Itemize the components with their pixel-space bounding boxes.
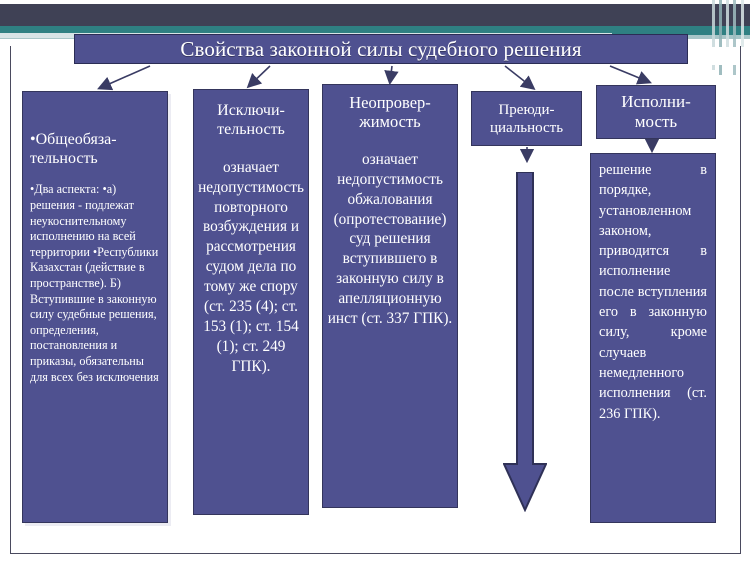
- node-body: означает недопустимость обжалования (опр…: [323, 132, 457, 329]
- slide-frame-left: [10, 46, 11, 554]
- node-body: означает недопустимость повторного возбу…: [194, 140, 308, 377]
- node-ispolnimost[interactable]: Исполни-мость: [596, 85, 716, 139]
- node-isklyuchitelnost[interactable]: Исключи-тельность означает недопустимост…: [193, 89, 309, 515]
- down-arrow-icon: [503, 172, 547, 512]
- slide-canvas: Свойства законной силы судебного решения…: [0, 0, 750, 562]
- node-preyudicialnost[interactable]: Преюди-циальность: [471, 91, 582, 146]
- slide-frame-bottom: [10, 553, 740, 554]
- slide-title-box: Свойства законной силы судебного решения: [74, 34, 688, 64]
- node-heading: •Общеобяза-тельность: [23, 92, 167, 168]
- node-obscheobyazatelnost[interactable]: •Общеобяза-тельность •Два аспекта: •а) р…: [22, 91, 168, 523]
- node-heading: Исключи-тельность: [194, 90, 308, 140]
- node-body: •Два аспекта: •а) решения - подлежат неу…: [23, 168, 167, 385]
- slide-frame-right: [740, 46, 741, 554]
- node-heading: Неопровер-жимость: [323, 85, 457, 132]
- node-ispolnimost-body[interactable]: решение в порядке, установленном законом…: [590, 153, 716, 523]
- node-heading: Преюди-циальность: [476, 101, 577, 137]
- node-neoproverzhimost[interactable]: Неопровер-жимость означает недопустимост…: [322, 84, 458, 508]
- node-body: решение в порядке, установленном законом…: [599, 160, 707, 424]
- slide-title: Свойства законной силы судебного решения: [180, 37, 581, 62]
- header-dark-band: [0, 4, 750, 26]
- node-heading: Исполни-мость: [601, 92, 711, 133]
